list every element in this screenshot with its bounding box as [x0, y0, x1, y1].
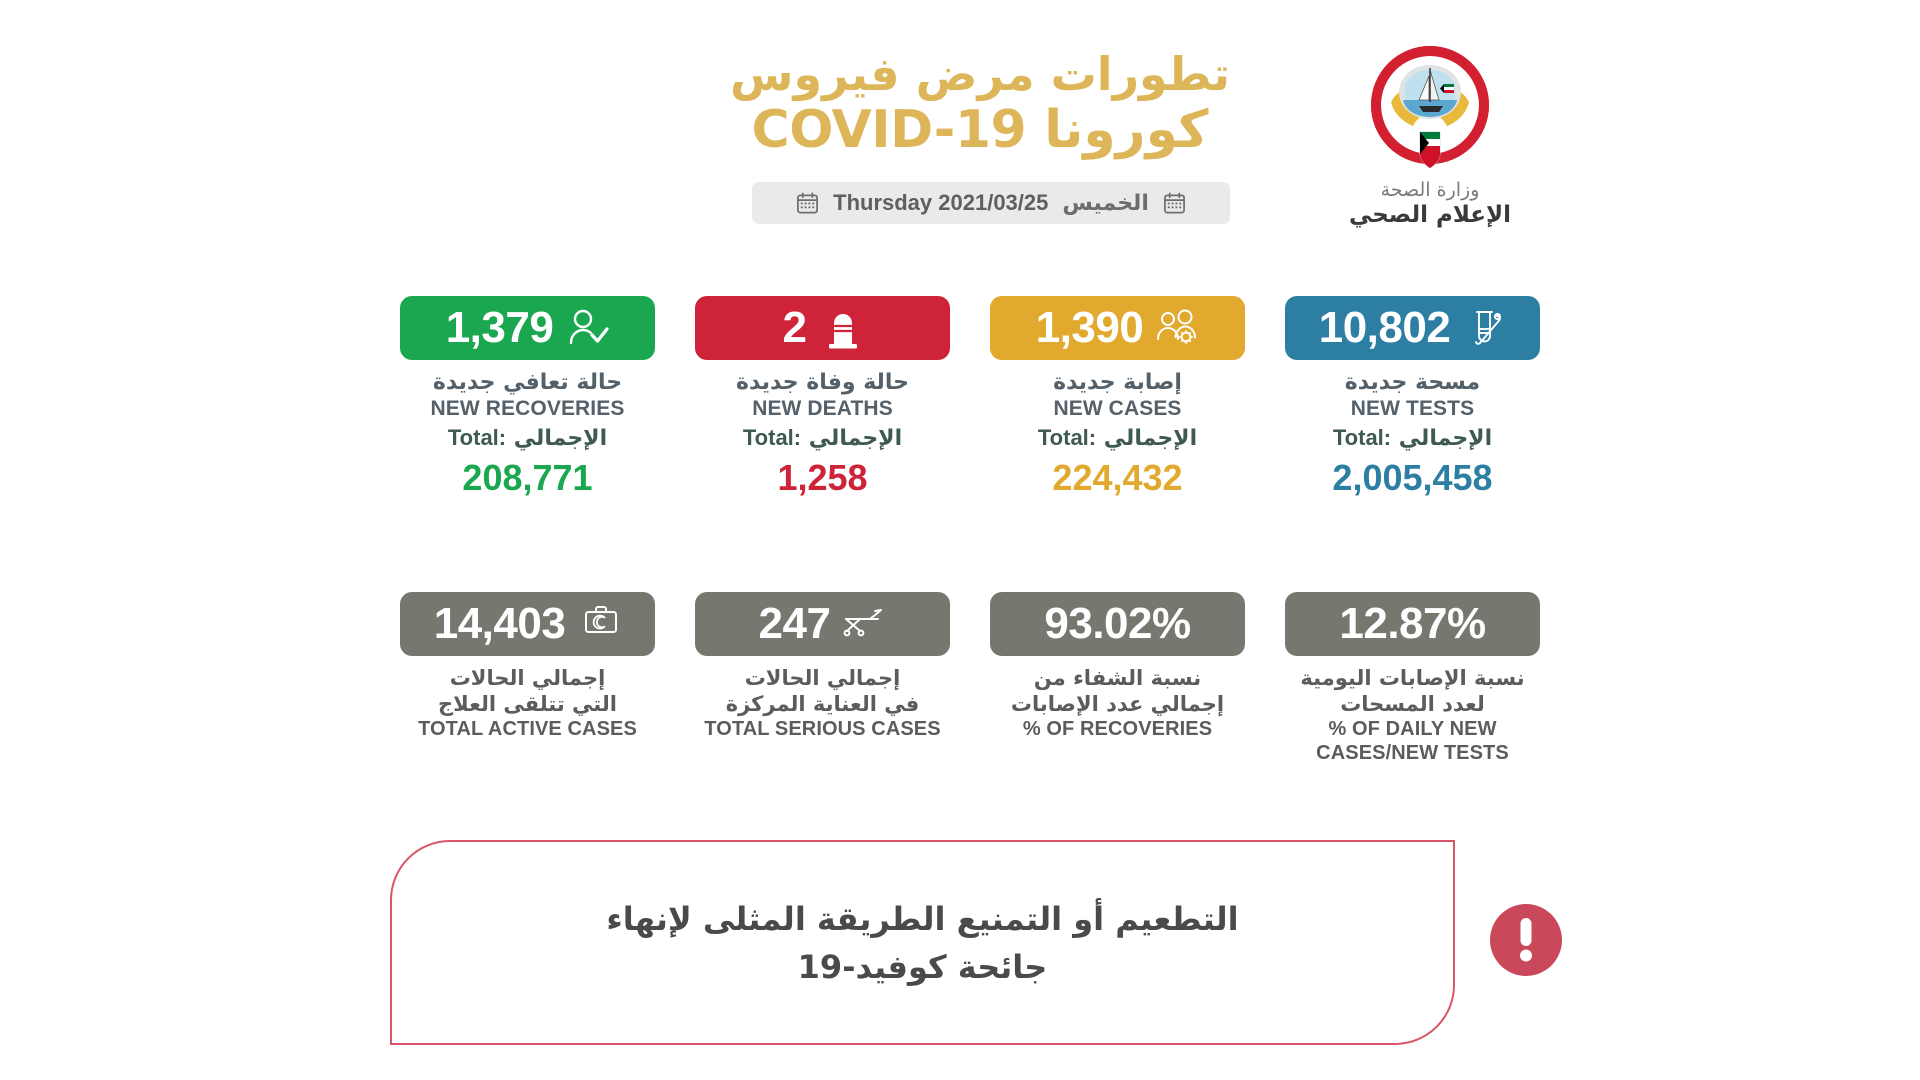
total-label-en: Total:	[1038, 425, 1096, 450]
stat-value-new-tests: 10,802	[1319, 306, 1451, 350]
stat-value-pct-daily-cases: 12.87%	[1339, 602, 1485, 646]
stat-value-pct-recoveries: 93.02%	[1044, 602, 1190, 646]
page-title-line-1: تطورات مرض فيروس	[700, 50, 1260, 100]
label-ar-line-2: في العناية المركزة	[679, 691, 966, 717]
caption-new-deaths: حالة وفاة جديدة NEW DEATHS الإجمالي Tota…	[679, 369, 966, 498]
label-ar-new-deaths: حالة وفاة جديدة	[679, 369, 966, 396]
date-english: Thursday 2021/03/25	[833, 190, 1048, 216]
page-title-line-2: كورونا COVID-19	[700, 102, 1260, 158]
caption-new-cases: إصابة جديدة NEW CASES الإجمالي Total: 22…	[974, 369, 1261, 498]
label-en-new-recoveries: NEW RECOVERIES	[384, 396, 671, 422]
stat-pill-new-recoveries: 1,379	[400, 296, 655, 360]
banner-line-1: التطعيم أو التمنيع الطريقة المثلى لإنهاء	[606, 895, 1238, 943]
primary-stats-row: 10,802 مسحة جديدة NEW TESTS الإجم	[380, 296, 1560, 498]
total-label-en: Total:	[1333, 425, 1391, 450]
total-label-new-cases: الإجمالي Total:	[974, 424, 1261, 452]
stat-value-total-active-cases: 14,403	[434, 602, 566, 646]
label-en-new-cases: NEW CASES	[974, 396, 1261, 422]
department-label: الإعلام الصحي	[1310, 203, 1550, 228]
caption-total-serious-cases: إجمالي الحالات في العناية المركزة TOTAL …	[679, 665, 966, 741]
total-label-new-deaths: الإجمالي Total:	[679, 424, 966, 452]
stat-card-total-serious-cases: 247 إجمالي الحالات في العناية المركزة TO…	[675, 592, 970, 766]
stat-pill-pct-recoveries: 93.02%	[990, 592, 1245, 656]
label-ar-line-2: التي تتلقى العلاج	[384, 691, 671, 717]
label-ar-new-tests: مسحة جديدة	[1269, 369, 1556, 396]
stat-card-new-recoveries: 1,379 حالة تعافي جديدة NEW RECOVERIES ال…	[380, 296, 675, 498]
test-tube-swab-icon	[1466, 307, 1506, 349]
hospital-stretcher-icon	[846, 603, 886, 645]
label-en-line-1: TOTAL ACTIVE CASES	[384, 717, 671, 741]
stat-pill-total-serious-cases: 247	[695, 592, 950, 656]
label-ar-new-recoveries: حالة تعافي جديدة	[384, 369, 671, 396]
stat-card-total-active-cases: 14,403 إجمالي الحالات التي تتلقى العلاج …	[380, 592, 675, 766]
total-label-new-recoveries: الإجمالي Total:	[384, 424, 671, 452]
stat-card-new-tests: 10,802 مسحة جديدة NEW TESTS الإجم	[1265, 296, 1560, 498]
medical-bag-icon	[581, 603, 621, 645]
stat-card-pct-recoveries: 93.02% نسبة الشفاء من إجمالي عدد الإصابا…	[970, 592, 1265, 766]
kuwait-state-emblem-icon	[1310, 40, 1550, 176]
caption-new-tests: مسحة جديدة NEW TESTS الإجمالي Total: 2,0…	[1269, 369, 1556, 498]
people-group-virus-icon	[1159, 307, 1199, 349]
stat-pill-new-tests: 10,802	[1285, 296, 1540, 360]
label-ar-new-cases: إصابة جديدة	[974, 369, 1261, 396]
stat-pill-total-active-cases: 14,403	[400, 592, 655, 656]
label-ar-line-1: نسبة الإصابات اليومية	[1269, 665, 1556, 691]
exclamation-circle-icon	[1488, 902, 1564, 978]
label-ar-line-1: إجمالي الحالات	[384, 665, 671, 691]
total-label-ar: الإجمالي	[514, 426, 607, 451]
secondary-stats-row: 12.87% نسبة الإصابات اليومية لعدد المسحا…	[380, 592, 1560, 766]
person-check-icon	[569, 307, 609, 349]
label-ar-line-2: إجمالي عدد الإصابات	[974, 691, 1261, 717]
caption-pct-daily-cases: نسبة الإصابات اليومية لعدد المسحات % OF …	[1269, 665, 1556, 766]
label-ar-line-1: إجمالي الحالات	[679, 665, 966, 691]
total-label-new-tests: الإجمالي Total:	[1269, 424, 1556, 452]
label-ar-line-2: لعدد المسحات	[1269, 691, 1556, 717]
stat-pill-new-cases: 1,390	[990, 296, 1245, 360]
stat-card-pct-daily-cases: 12.87% نسبة الإصابات اليومية لعدد المسحا…	[1265, 592, 1560, 766]
date-arabic: الخميس	[1062, 191, 1149, 216]
total-label-ar: الإجمالي	[1399, 426, 1492, 451]
stat-value-total-serious-cases: 247	[759, 602, 831, 646]
stat-value-new-deaths: 2	[783, 306, 807, 350]
total-value-new-recoveries: 208,771	[384, 458, 671, 498]
label-en-new-deaths: NEW DEATHS	[679, 396, 966, 422]
label-en-line-2: CASES/NEW TESTS	[1269, 741, 1556, 765]
total-label-en: Total:	[448, 425, 506, 450]
calendar-icon	[1163, 191, 1186, 215]
infographic-page: تطورات مرض فيروس كورونا COVID-19 الخمي	[0, 0, 1920, 1080]
total-value-new-cases: 224,432	[974, 458, 1261, 498]
tombstone-icon	[823, 307, 863, 349]
ministry-logo-block: وزارة الصحة الإعلام الصحي	[1310, 40, 1550, 228]
stat-value-new-cases: 1,390	[1036, 306, 1144, 350]
title-block: تطورات مرض فيروس كورونا COVID-19	[700, 50, 1260, 158]
total-label-en: Total:	[743, 425, 801, 450]
total-value-new-deaths: 1,258	[679, 458, 966, 498]
label-en-line-1: TOTAL SERIOUS CASES	[679, 717, 966, 741]
label-ar-line-1: نسبة الشفاء من	[974, 665, 1261, 691]
label-en-new-tests: NEW TESTS	[1269, 396, 1556, 422]
stat-pill-new-deaths: 2	[695, 296, 950, 360]
label-en-line-1: % OF DAILY NEW	[1269, 717, 1556, 741]
banner-line-2: جائحة كوفيد-19	[606, 943, 1238, 991]
stat-card-new-cases: 1,390 إصابة جديدة NEW CASES الإجم	[970, 296, 1265, 498]
awareness-banner-wrap: التطعيم أو التمنيع الطريقة المثلى لإنهاء…	[380, 840, 1560, 1060]
caption-total-active-cases: إجمالي الحالات التي تتلقى العلاج TOTAL A…	[384, 665, 671, 741]
stat-card-new-deaths: 2 حالة وفاة جديدة NEW DEATHS الإجمالي To…	[675, 296, 970, 498]
total-label-ar: الإجمالي	[809, 426, 902, 451]
header: تطورات مرض فيروس كورونا COVID-19 الخمي	[380, 40, 1560, 280]
date-bar: الخميس Thursday 2021/03/25	[752, 182, 1230, 224]
ministry-label: وزارة الصحة	[1310, 180, 1550, 201]
stat-pill-pct-daily-cases: 12.87%	[1285, 592, 1540, 656]
calendar-icon	[796, 191, 819, 215]
awareness-banner-text: التطعيم أو التمنيع الطريقة المثلى لإنهاء…	[566, 895, 1278, 991]
caption-new-recoveries: حالة تعافي جديدة NEW RECOVERIES الإجمالي…	[384, 369, 671, 498]
stat-value-new-recoveries: 1,379	[446, 306, 554, 350]
total-value-new-tests: 2,005,458	[1269, 458, 1556, 498]
caption-pct-recoveries: نسبة الشفاء من إجمالي عدد الإصابات % OF …	[974, 665, 1261, 741]
total-label-ar: الإجمالي	[1104, 426, 1197, 451]
label-en-line-1: % OF RECOVERIES	[974, 717, 1261, 741]
awareness-banner: التطعيم أو التمنيع الطريقة المثلى لإنهاء…	[390, 840, 1455, 1045]
